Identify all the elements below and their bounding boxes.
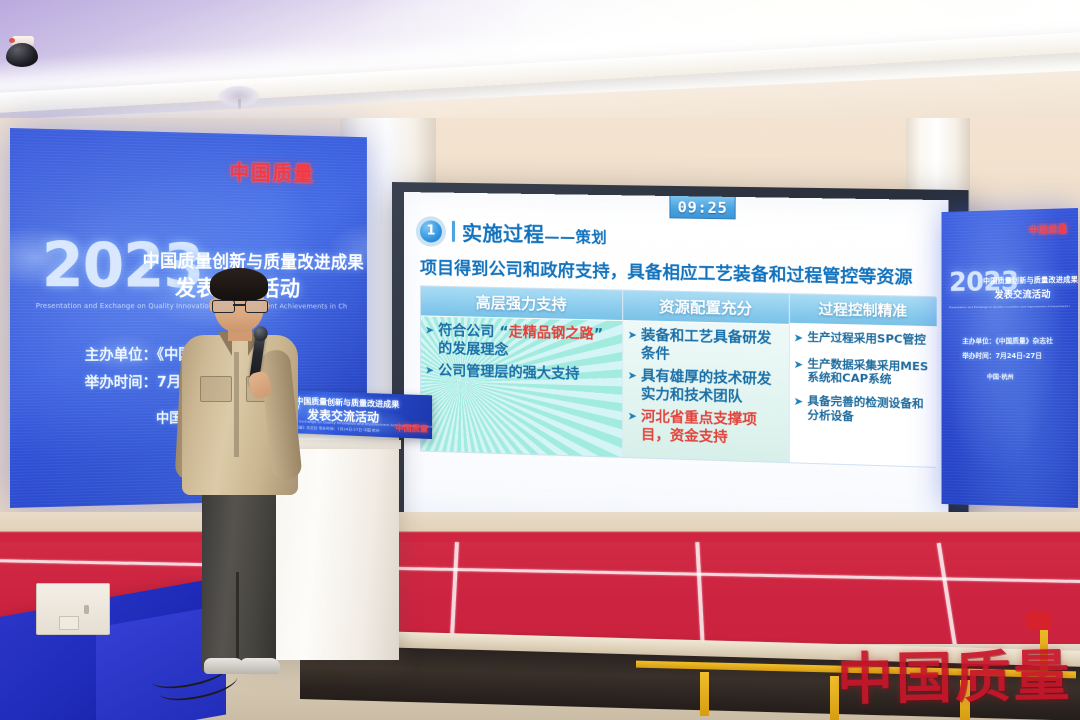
presentation-slide: 09:25 1 实施过程——策划 项目得到公司和政府支持，具备相应工艺装备和过程… (404, 192, 948, 534)
table-column: 高层强力支持 ➤ 符合公司 “走精品钢之路” 的发展理念 ➤ 公司管理层的强大支… (421, 286, 623, 457)
ceiling-sprinkler-icon (218, 86, 260, 108)
section-number-badge: 1 (420, 220, 442, 242)
eyeglasses-icon (211, 299, 267, 311)
bullet-item: ➤ 公司管理层的强大支持 (425, 363, 617, 386)
bullet-arrow-icon: ➤ (425, 363, 434, 381)
header-divider-bar (452, 221, 455, 242)
slide-title-main: 实施过程 (462, 221, 544, 247)
bullet-text-highlight: 走精品钢之路 (509, 324, 594, 342)
bullet-arrow-icon: ➤ (627, 408, 636, 444)
organizer-label: 主办单位： (85, 345, 157, 363)
bullet-arrow-icon: ➤ (627, 327, 636, 363)
table-column: 资源配置充分 ➤ 装备和工艺具备研发条件 ➤ 具有雄厚的技术研发实力和技术团队 … (623, 291, 789, 463)
speaker-shirt-pocket (200, 376, 232, 402)
bullet-arrow-icon: ➤ (794, 330, 804, 347)
slide-lead-statement: 项目得到公司和政府支持，具备相应工艺装备和过程管控等资源 (420, 253, 936, 289)
countdown-timer: 09:25 (669, 195, 735, 219)
wall-access-panel (36, 583, 110, 635)
speaker-trousers (202, 490, 276, 672)
banner-brand-logo: 中国质量 (395, 422, 428, 434)
slide-title: 实施过程——策划 (462, 217, 607, 249)
stage-marker-red (1026, 612, 1052, 630)
date-label: 举办时间： (85, 373, 157, 391)
bullet-text: 生产过程采用SPC管控 (807, 330, 925, 350)
bullet-arrow-icon: ➤ (794, 394, 804, 422)
table-column-body: ➤ 生产过程采用SPC管控 ➤ 生产数据采集采用MES系统和CAP系统 ➤ 具备… (789, 324, 936, 467)
table-column-header: 高层强力支持 (421, 286, 622, 321)
bullet-arrow-icon: ➤ (794, 356, 804, 384)
bullet-arrow-icon: ➤ (627, 368, 636, 404)
speaker-person (178, 272, 300, 672)
bullet-item: ➤ 具备完善的检测设备和分析设备 (794, 394, 932, 426)
table-column: 过程控制精准 ➤ 生产过程采用SPC管控 ➤ 生产数据采集采用MES系统和CAP… (789, 294, 936, 467)
bullet-item: ➤ 装备和工艺具备研发条件 (627, 327, 783, 367)
slide-table: 高层强力支持 ➤ 符合公司 “走精品钢之路” 的发展理念 ➤ 公司管理层的强大支… (420, 285, 936, 468)
bullet-item: ➤ 具有雄厚的技术研发实力和技术团队 (627, 368, 783, 408)
bullet-text: 装备和工艺具备研发条件 (641, 328, 783, 367)
conference-room-photo: 中国质量 2023 中国质量创新与质量改进成果 发表交流活动 Presentat… (0, 0, 1080, 720)
slide-section-header: 1 实施过程——策划 (420, 216, 936, 255)
event-title-english: Presentation and Exchange on Quality Inn… (949, 304, 1070, 309)
bullet-text-prefix: 符合公司 “ (438, 323, 508, 341)
bullet-item: ➤ 河北省重点支撑项目，资金支持 (627, 408, 783, 448)
speaker-shoe (240, 658, 280, 674)
bullet-item: ➤ 生产数据采集采用MES系统和CAP系统 (794, 356, 932, 388)
event-title-line2: 发表交流活动 (994, 286, 1050, 301)
slide-title-dash: —— (544, 227, 575, 246)
floor-grid-line (0, 557, 1080, 587)
table-column-header: 过程控制精准 (789, 294, 936, 327)
location-text: 中国·杭州 (987, 372, 1014, 381)
speaker-leg-split (236, 572, 239, 672)
speaker-shoe (204, 658, 244, 674)
organizer-row: 主办单位：《中国质量》杂志社 (962, 336, 1053, 346)
bullet-item: ➤ 符合公司 “走精品钢之路” 的发展理念 (425, 322, 617, 362)
security-camera-icon (6, 36, 40, 72)
bullet-text: 具有雄厚的技术研发实力和技术团队 (641, 368, 783, 408)
speaker-hair (210, 268, 268, 301)
bullet-text: 公司管理层的强大支持 (438, 363, 579, 384)
bullet-text: 生产数据采集采用MES系统和CAP系统 (807, 357, 931, 389)
table-column-body: ➤ 符合公司 “走精品钢之路” 的发展理念 ➤ 公司管理层的强大支持 (421, 316, 622, 457)
bullet-text: 符合公司 “走精品钢之路” 的发展理念 (438, 323, 617, 363)
bullet-item: ➤ 生产过程采用SPC管控 (794, 330, 932, 350)
bullet-text: 具备完善的检测设备和分析设备 (807, 394, 931, 426)
date-row: 举办时间：7月24日-27日 (962, 351, 1042, 361)
speaker-shirt-placket (234, 352, 239, 457)
brand-logo-text: 中国质量 (1029, 222, 1068, 236)
slide-title-sub: 策划 (576, 228, 607, 247)
event-title-line1: 中国质量创新与质量改进成果 (983, 274, 1078, 286)
led-screen-right: 中国质量 2023 中国质量创新与质量改进成果 发表交流活动 Presentat… (942, 208, 1078, 508)
stage-truss-leg (700, 672, 709, 716)
bullet-arrow-icon: ➤ (425, 322, 434, 357)
brand-logo-text: 中国质量 (230, 157, 315, 188)
bullet-text: 河北省重点支撑项目，资金支持 (641, 409, 783, 449)
table-column-header: 资源配置充分 (623, 291, 788, 325)
watermark-logo: 中国质量 (836, 631, 1073, 716)
table-column-body: ➤ 装备和工艺具备研发条件 ➤ 具有雄厚的技术研发实力和技术团队 ➤ 河北省重点… (623, 321, 788, 462)
